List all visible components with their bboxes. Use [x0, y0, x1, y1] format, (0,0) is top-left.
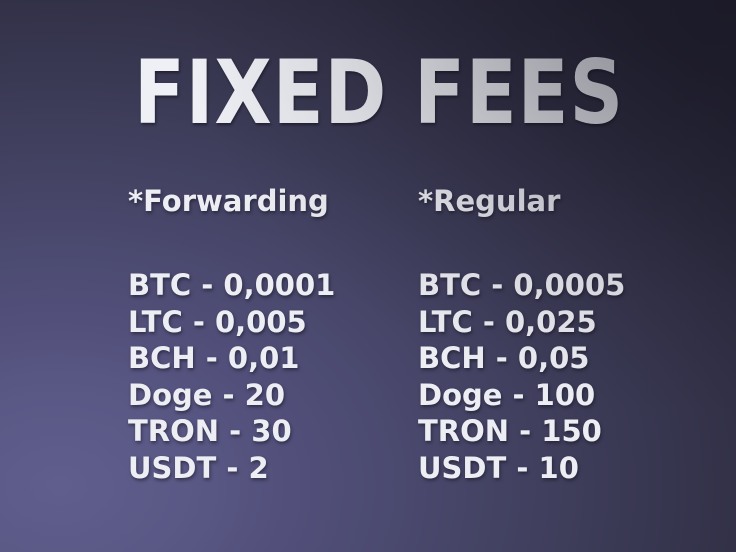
fee-columns: *Forwarding BTC - 0,0001 LTC - 0,005 BCH… [0, 0, 736, 552]
column-header-forwarding: *Forwarding [128, 186, 335, 216]
fee-list-forwarding: BTC - 0,0001 LTC - 0,005 BCH - 0,01 Doge… [128, 267, 335, 486]
list-item: USDT - 10 [418, 450, 625, 487]
list-item: LTC - 0,005 [128, 304, 335, 341]
list-item: Doge - 20 [128, 377, 335, 414]
fee-column-regular: *Regular BTC - 0,0005 LTC - 0,025 BCH - … [418, 186, 625, 486]
list-item: BCH - 0,01 [128, 340, 335, 377]
list-item: Doge - 100 [418, 377, 625, 414]
list-item: USDT - 2 [128, 450, 335, 487]
list-item: TRON - 30 [128, 413, 335, 450]
list-item: BCH - 0,05 [418, 340, 625, 377]
fixed-fees-slide: FIXED FEES *Forwarding BTC - 0,0001 LTC … [0, 0, 736, 552]
list-item: TRON - 150 [418, 413, 625, 450]
column-header-regular: *Regular [418, 186, 625, 216]
list-item: BTC - 0,0005 [418, 267, 625, 304]
list-item: BTC - 0,0001 [128, 267, 335, 304]
list-item: LTC - 0,025 [418, 304, 625, 341]
fee-column-forwarding: *Forwarding BTC - 0,0001 LTC - 0,005 BCH… [128, 186, 335, 486]
fee-list-regular: BTC - 0,0005 LTC - 0,025 BCH - 0,05 Doge… [418, 267, 625, 486]
